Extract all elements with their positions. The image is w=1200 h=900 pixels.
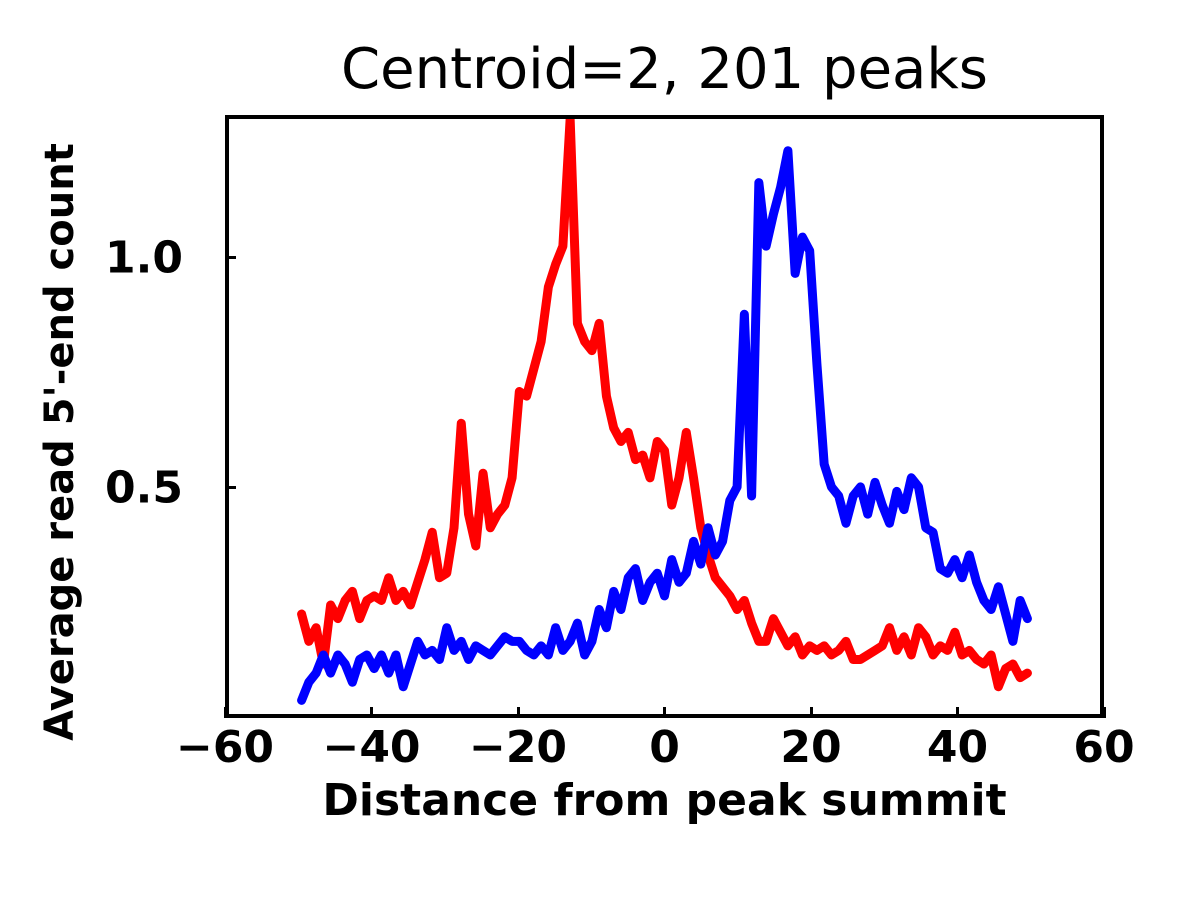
x-tick-label: 40	[927, 722, 988, 773]
x-tick-label: −40	[322, 722, 420, 773]
x-tick-label: 60	[1073, 722, 1134, 773]
y-tick-mark	[225, 256, 236, 259]
x-tick-mark	[810, 707, 813, 718]
x-tick-label: 0	[649, 722, 680, 773]
y-axis-label-container: Average read 5'-end count	[0, 0, 72, 900]
x-tick-mark	[224, 707, 227, 718]
y-tick-label: 0.5	[105, 462, 183, 513]
x-axis-label: Distance from peak summit	[225, 775, 1104, 826]
y-tick-label: 1.0	[105, 232, 183, 283]
x-tick-label: 20	[780, 722, 841, 773]
series-line-forward-strand-5-prime-ends	[302, 119, 1028, 687]
chart-figure: Centroid=2, 201 peaks Average read 5'-en…	[0, 0, 1200, 900]
x-tick-mark	[956, 707, 959, 718]
y-tick-mark	[225, 486, 236, 489]
x-tick-label: −20	[469, 722, 567, 773]
y-axis-label: Average read 5'-end count	[37, 27, 83, 857]
x-tick-mark	[517, 707, 520, 718]
x-tick-label: −60	[176, 722, 274, 773]
x-tick-mark	[370, 707, 373, 718]
x-tick-mark	[1103, 707, 1106, 718]
plot-area	[225, 115, 1104, 718]
plot-canvas	[229, 119, 1100, 714]
chart-title: Centroid=2, 201 peaks	[225, 42, 1104, 98]
series-line-reverse-strand-5-prime-ends	[302, 151, 1028, 701]
x-tick-mark	[663, 707, 666, 718]
